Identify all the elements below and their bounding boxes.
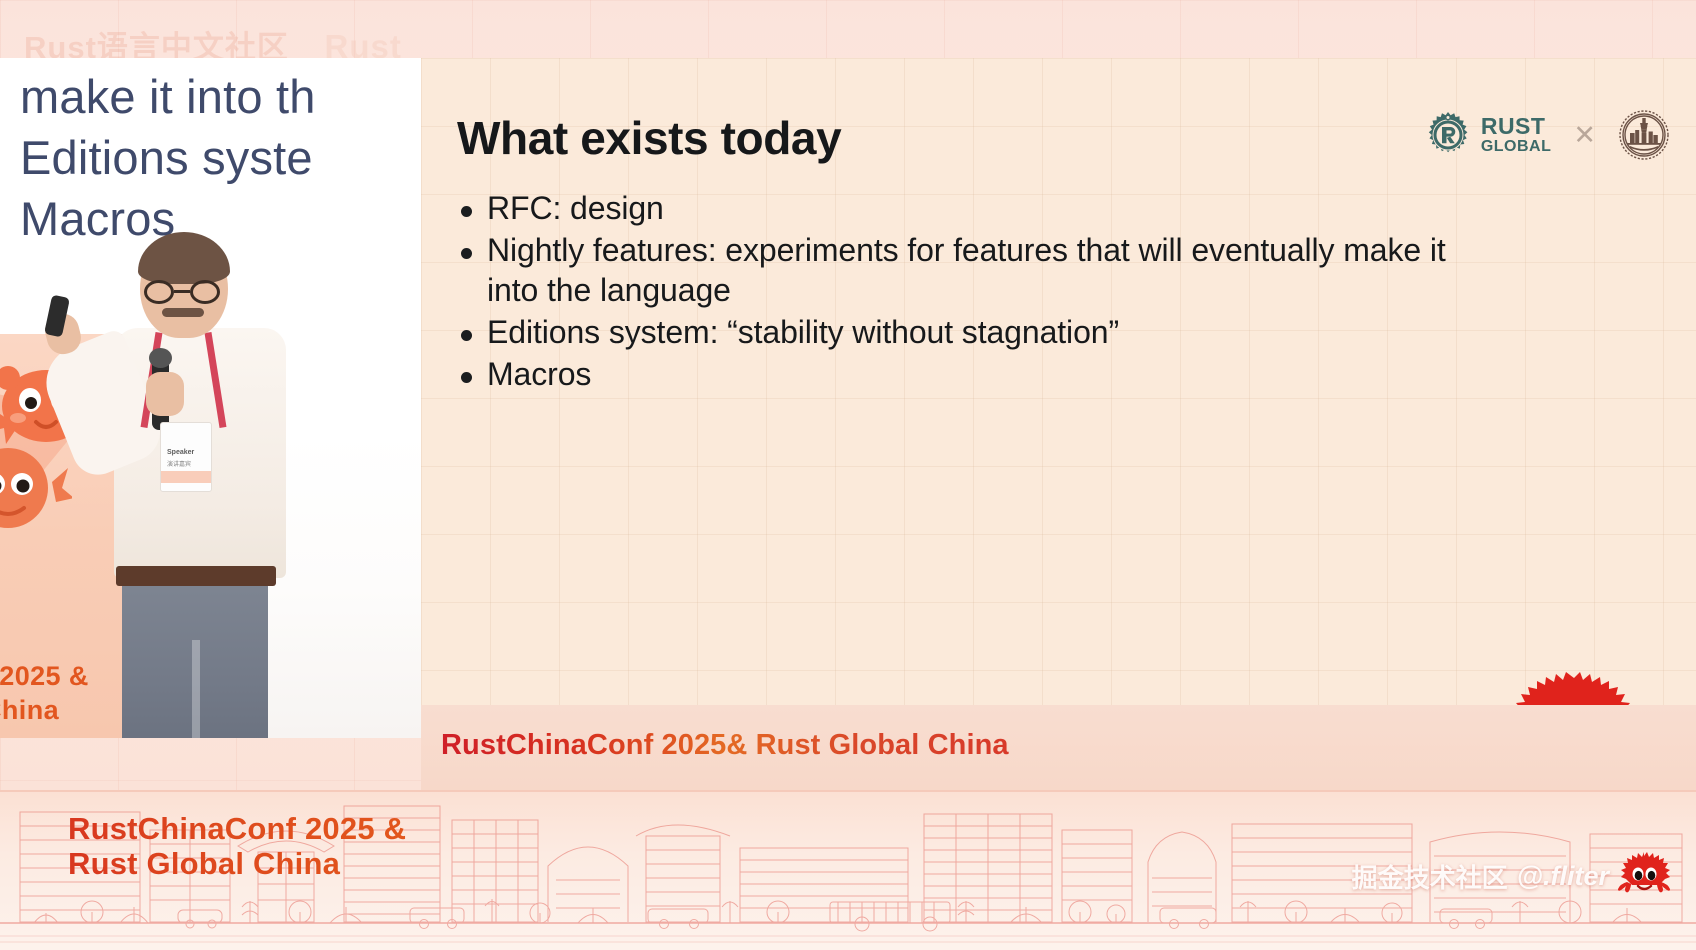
bullet-text: Macros [487,354,591,394]
conference-bottom-banner: RustChinaConf 2025 & Rust Global China 掘… [0,790,1696,950]
badge-stripe [161,471,211,483]
badge-role-text: Speaker [167,449,194,456]
watermark-user-handle: @.fliter [1517,861,1609,892]
speaker-glasses-icon [142,280,226,304]
slide-footer-band: RustChinaConf 2025& Rust Global China [421,705,1696,790]
list-item: Editions system: “stability without stag… [461,312,1501,352]
logo-separator-x-icon: ✕ [1573,122,1596,149]
watermark-site-name: 掘金技术社区 [1352,858,1508,895]
speaker-mic-hand [146,372,184,416]
screenshot-root: Rust语言中文社区 Rust make it into th Editions… [0,0,1696,950]
watermark-crab-icon [1618,850,1670,902]
bullet-dot-icon [461,248,472,259]
glasses-bridge [174,290,190,293]
banner-title-line1: RustChinaConf 2025 & [68,812,406,847]
list-item: Macros [461,354,1501,394]
bullet-dot-icon [461,372,472,383]
slide-footer-text: RustChinaConf 2025& Rust Global China [441,729,1009,762]
speaker-legs [122,580,268,738]
speaker-figure: Speaker 演讲嘉宾 [118,236,308,738]
projected-slide-text: make it into th Editions syste Macros [20,66,421,249]
city-skyline-badge-icon [1618,109,1670,161]
rust-global-line2: GLOBAL [1481,139,1552,155]
slide-title: What exists today [457,111,841,165]
list-item: RFC: design [461,188,1501,228]
microphone-head-icon [149,348,172,368]
rust-global-line1: RUST [1481,115,1552,138]
speaker-hair [138,232,230,284]
rust-global-wordmark: RUST GLOBAL [1481,115,1552,155]
presentation-slide: What exists today RUST GLOBAL [421,58,1696,790]
bullet-text: Editions system: “stability without stag… [487,312,1119,352]
bullet-text: RFC: design [487,188,664,228]
projected-line-1: make it into th [20,66,421,127]
glasses-lens-right [190,280,220,304]
speaker-video-panel[interactable]: make it into th Editions syste Macros f … [0,58,421,738]
watermark-juejin: 掘金技术社区 @.fliter [1352,850,1670,902]
banner-conference-title: RustChinaConf 2025 & Rust Global China [68,812,406,881]
badge-sub-text: 演讲嘉宾 [167,459,191,468]
bullet-dot-icon [461,330,472,341]
projected-line-2: Editions syste [20,127,421,188]
banner-title-line2: Rust Global China [68,847,406,882]
glasses-lens-left [144,280,174,304]
list-item: Nightly features: experiments for featur… [461,230,1501,310]
slide-bullet-list: RFC: design Nightly features: experiment… [461,188,1501,396]
bullet-dot-icon [461,206,472,217]
bullet-text: Nightly features: experiments for featur… [487,230,1501,310]
rust-global-logo: RUST GLOBAL [1424,111,1552,159]
speaker-belt [116,566,276,586]
rust-gear-logo-icon [1424,111,1472,159]
speaker-conference-badge: Speaker 演讲嘉宾 [160,422,212,492]
speaker-leg-gap [192,640,200,738]
slide-logo-row: RUST GLOBAL ✕ [1424,106,1670,164]
speaker-moustache [162,308,204,317]
